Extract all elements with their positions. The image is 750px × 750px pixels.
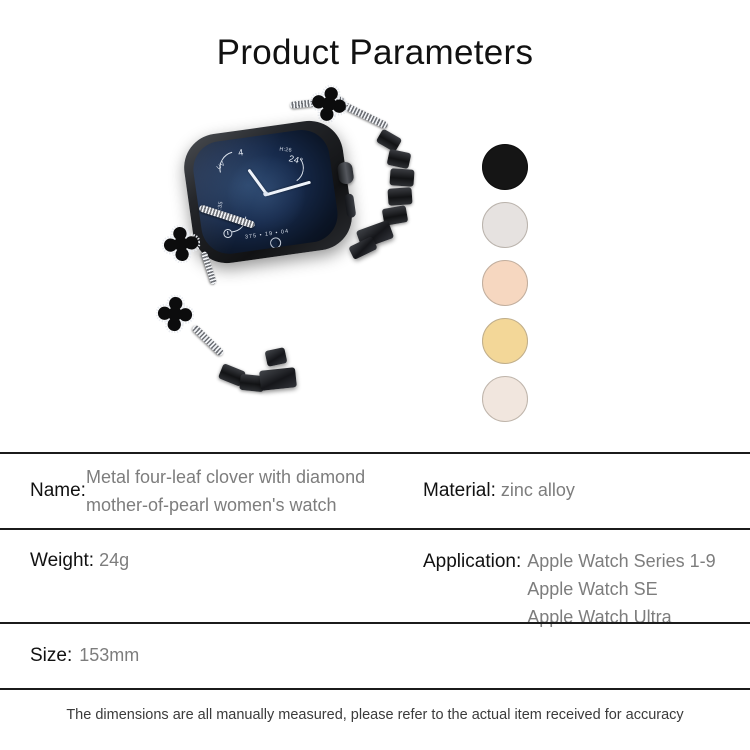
value-size: 153mm	[79, 644, 139, 668]
apple-watch-head: 4 UV 24° H:26 12:35 375 • 19 • 04	[180, 116, 357, 267]
value-weight: 24g	[99, 549, 129, 573]
swatch-rose-gold[interactable]	[482, 260, 528, 306]
clover-charm-middle	[160, 223, 202, 265]
cell-weight: Weight: 24g	[0, 530, 415, 573]
cell-material: Material: zinc alloy	[415, 479, 750, 503]
band-clasp-bottom	[259, 367, 297, 391]
label-application: Application:	[423, 551, 521, 573]
specification-table: Name: Metal four-leaf clover with diamon…	[0, 452, 750, 690]
value-name-line1: Metal four-leaf clover with diamond	[86, 466, 365, 490]
swatch-silver-white[interactable]	[482, 202, 528, 248]
band-link-r4	[387, 187, 412, 206]
product-parameters-page: Product Parameters	[0, 0, 750, 750]
screen-glare	[190, 126, 298, 257]
value-material: zinc alloy	[501, 479, 575, 503]
table-row-name-material: Name: Metal four-leaf clover with diamon…	[0, 452, 750, 528]
product-hero-image: 4 UV 24° H:26 12:35 375 • 19 • 04	[0, 85, 750, 430]
color-swatch-list	[482, 144, 534, 426]
measurement-disclaimer: The dimensions are all manually measured…	[0, 707, 750, 723]
label-weight: Weight:	[30, 550, 94, 572]
value-application: Apple Watch Series 1-9 Apple Watch SE Ap…	[527, 549, 715, 630]
band-rhinestone-lower-bottom	[191, 324, 225, 357]
cell-name: Name: Metal four-leaf clover with diamon…	[0, 465, 415, 518]
band-link-r1	[376, 129, 403, 153]
value-name: Metal four-leaf clover with diamond moth…	[86, 465, 365, 518]
swatch-gold[interactable]	[482, 318, 528, 364]
band-clasp-bottom-tip	[265, 347, 288, 367]
table-row-weight-application: Weight: 24g Application: Apple Watch Ser…	[0, 528, 750, 622]
swatch-champagne[interactable]	[482, 376, 528, 422]
band-link-r3	[389, 168, 414, 187]
table-row-size: Size: 153mm	[0, 622, 750, 690]
application-item: Apple Watch SE	[527, 578, 715, 602]
clover-charm-bottom	[155, 294, 196, 335]
watch-screen: 4 UV 24° H:26 12:35 375 • 19 • 04	[190, 126, 341, 257]
swatch-black[interactable]	[482, 144, 528, 190]
application-item: Apple Watch Series 1-9	[527, 550, 715, 574]
value-name-line2: mother-of-pearl women's watch	[86, 494, 365, 518]
watch-illustration: 4 UV 24° H:26 12:35 375 • 19 • 04	[140, 85, 440, 430]
cell-size: Size: 153mm	[0, 644, 415, 668]
band-link-r2	[387, 149, 412, 169]
label-size: Size:	[30, 645, 72, 667]
cell-application: Application: Apple Watch Series 1-9 Appl…	[415, 530, 750, 630]
page-title: Product Parameters	[0, 33, 750, 73]
digital-crown	[337, 161, 355, 185]
label-name: Name:	[30, 480, 86, 502]
label-material: Material:	[423, 480, 496, 502]
